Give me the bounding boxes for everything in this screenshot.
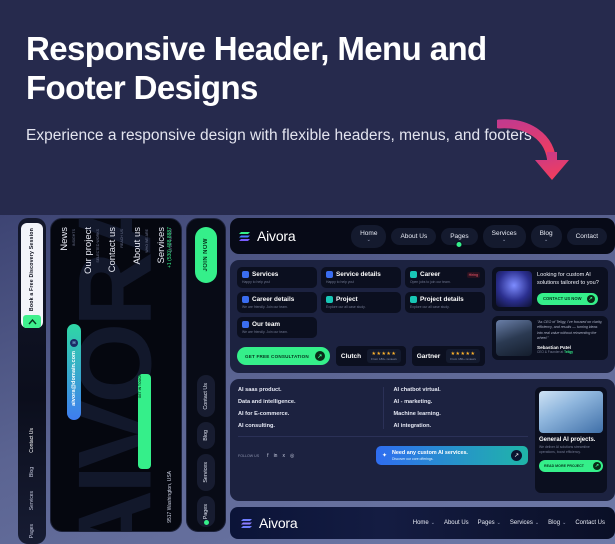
footer-brand-name: Aivora [259, 515, 297, 531]
read-more-project-button[interactable]: READ MORE PROJECT ↗ [539, 460, 603, 472]
footer-navbar: Aivora Home ⌄ About Us Pages ⌄ Services … [230, 507, 615, 539]
nav-label: Services [492, 230, 517, 237]
tile-service-details[interactable]: Service details Happy to help you! [321, 267, 401, 288]
board-contact-rail: +1 (530) 488 8887 9517 Washington, USA [162, 227, 178, 523]
link-ai-saas[interactable]: AI saas product. [238, 387, 373, 393]
tile-title: Service details [336, 271, 381, 278]
linkedin-icon[interactable]: in [274, 453, 278, 459]
teal-icon [326, 296, 333, 303]
footer-nav-label: Contact Us [575, 520, 605, 526]
board-phone[interactable]: +1 (530) 488 8887 [167, 227, 173, 268]
board-green-cta[interactable]: GET IN TOUCH [138, 374, 151, 469]
tile-sub: Explore our all case study. [410, 305, 480, 309]
grid-icon [242, 321, 249, 328]
board-menu-item-contact[interactable]: Contact us REACH US [107, 227, 124, 272]
board-menu-label: About us [132, 227, 143, 265]
tile-title: Project [336, 296, 358, 303]
board-green-cta-label: GET IN TOUCH [138, 374, 142, 398]
tile-our-team[interactable]: Our team We are friendly. Join our team. [237, 317, 317, 338]
footer-nav-label: Services [510, 520, 533, 526]
teal-icon [410, 296, 417, 303]
tile-title: Career [420, 271, 440, 278]
get-free-consultation-button[interactable]: GET FREE CONSULTATION ↗ [237, 347, 330, 365]
links-bottom-row: FOLLOW US f in x ◎ ✦ Need any custom AI … [238, 446, 528, 465]
nav-label: Contact [576, 233, 598, 240]
chevron-up-icon[interactable] [23, 315, 41, 328]
footer-brand[interactable]: Aivora [240, 515, 297, 531]
nav-item-about-us[interactable]: About Us [391, 228, 436, 245]
badge-count: From 180+ reviews [371, 357, 397, 361]
links-columns: AI saas product. Data and intelligence. … [238, 387, 528, 437]
panel-discovery-rail: Book a Free Discovery Session Contact Us… [18, 218, 46, 544]
footer-nav-item-pages[interactable]: Pages ⌄ [478, 520, 501, 526]
grid-icon [242, 271, 249, 278]
contact-us-now-button[interactable]: CONTACT US NOW ↗ [537, 293, 598, 305]
gartner-rating-badge: Gartner ★★★★★ From 180+ reviews [412, 346, 485, 366]
nav-label: About Us [400, 233, 427, 240]
footer-nav-item-blog[interactable]: Blog ⌄ [548, 520, 566, 526]
dribbble-icon[interactable]: ◎ [290, 453, 294, 459]
discovery-session-label: Book a Free Discovery Session [29, 228, 35, 311]
chevron-down-icon: ⌄ [535, 520, 539, 526]
link-ai-consulting[interactable]: AI consulting. [238, 423, 373, 429]
join-rail-nav: Contact Us Blog Services Pages [197, 375, 215, 527]
brand-name: Aivora [257, 228, 295, 244]
tile-career[interactable]: Career Hiring Open jobs to join our team… [405, 267, 485, 288]
panel-join-rail: JOIN NOW Contact Us Blog Services Pages [186, 218, 226, 532]
mega-tile-grid: Services Happy to help you! Service deta… [237, 267, 485, 338]
facebook-icon[interactable]: f [267, 453, 268, 459]
rail-nav-item-pages[interactable]: Pages [29, 524, 35, 538]
join-now-label: JOIN NOW [203, 238, 209, 272]
chevron-down-icon: ⌄ [562, 520, 566, 526]
nav-item-contact[interactable]: Contact [567, 228, 607, 245]
main-nav: Home ⌄ About Us Pages Services ⌄ Blog ⌄ [351, 225, 607, 248]
testimonial-card: "As CEO of Teligy, I've focused on clari… [492, 316, 608, 360]
consult-label: GET FREE CONSULTATION [245, 354, 309, 359]
link-data-intelligence[interactable]: Data and intelligence. [238, 399, 373, 405]
clutch-rating-badge: Clutch ★★★★★ From 180+ reviews [336, 346, 406, 366]
mega-menu-left: Services Happy to help you! Service deta… [237, 267, 485, 366]
custom-ai-services-banner[interactable]: ✦ Need any custom AI services. Discover … [376, 446, 528, 465]
board-menu-sub: REACH US [120, 229, 124, 248]
testimonial-quote: "As CEO of Teligy, I've focused on clari… [537, 320, 604, 342]
links-wrap: AI saas product. Data and intelligence. … [238, 387, 528, 493]
link-ai-marketing[interactable]: AI - marketing. [394, 399, 529, 405]
banner-title: Need any custom AI services. [392, 450, 468, 456]
chevron-down-icon: ⌄ [367, 238, 371, 243]
active-dot-icon [204, 520, 209, 525]
tile-title: Project details [420, 296, 464, 303]
footer-nav-item-contact-us[interactable]: Contact Us [575, 520, 605, 526]
showcase-strip: Book a Free Discovery Session Contact Us… [0, 215, 615, 544]
board-menu-item-news[interactable]: News INSIGHTS [59, 227, 76, 251]
mega-menu: Services Happy to help you! Service deta… [230, 260, 615, 373]
join-now-button[interactable]: JOIN NOW [195, 227, 217, 283]
footer-nav-label: Blog [548, 520, 560, 526]
badge-count: From 180+ reviews [450, 357, 476, 361]
nav-label: Pages [450, 233, 468, 240]
grid-icon [326, 271, 333, 278]
join-nav-label: Blog [203, 430, 209, 441]
mega-menu-links: AI saas product. Data and intelligence. … [230, 379, 615, 501]
general-ai-project-image [539, 391, 603, 433]
active-dot-icon [456, 241, 463, 248]
follow-label: FOLLOW US [238, 454, 259, 458]
teal-icon [410, 271, 417, 278]
tile-sub: Happy to help you! [242, 280, 312, 284]
sparkle-icon: ✦ [382, 452, 387, 459]
nav-item-home[interactable]: Home ⌄ [351, 225, 386, 248]
arrow-up-right-icon: ↗ [593, 462, 601, 470]
arrow-up-right-icon: ↗ [511, 450, 522, 461]
link-column-1: AI saas product. Data and intelligence. … [238, 387, 373, 429]
chevron-down-icon: ⌄ [502, 238, 506, 243]
join-nav-item-pages[interactable]: Pages [197, 496, 215, 527]
promo-button-label: CONTACT US NOW [543, 296, 582, 301]
board-menu-sub: SELECTED WORKS [96, 229, 100, 263]
join-nav-item-blog[interactable]: Blog [197, 422, 215, 449]
join-nav-item-contact[interactable]: Contact Us [197, 375, 215, 418]
link-machine-learning[interactable]: Machine learning. [394, 411, 529, 417]
arrow-up-right-icon: ↗ [587, 295, 595, 303]
footer-nav-item-home[interactable]: Home ⌄ [413, 520, 435, 526]
board-menu-label: Contact us [107, 227, 118, 272]
tile-sub: We are friendly. Join our team. [242, 305, 312, 309]
board-menu-item-about[interactable]: About us WHO WE ARE [132, 227, 149, 265]
footer-nav-label: Home [413, 520, 429, 526]
nav-item-blog[interactable]: Blog ⌄ [531, 225, 562, 248]
nav-item-pages[interactable]: Pages [441, 228, 477, 245]
project-sub: We deliver AI solutions streamline opera… [539, 445, 603, 455]
link-column-2: AI chatbot virtual. AI - marketing. Mach… [383, 387, 529, 429]
tile-project[interactable]: Project Explore our all case study. [321, 292, 401, 313]
project-title: General AI projects. [539, 437, 603, 443]
ai-face-image [496, 271, 532, 307]
join-nav-item-services[interactable]: Services [197, 454, 215, 491]
rail-nav-item-services[interactable]: Services [29, 491, 35, 510]
chevron-down-icon: ⌄ [497, 520, 501, 526]
footer-nav-item-services[interactable]: Services ⌄ [510, 520, 539, 526]
join-nav-label: Pages [203, 504, 209, 519]
arrow-up-right-icon: ↗ [315, 351, 325, 361]
aivora-logo-icon [240, 516, 254, 530]
testimonial-role: CEO & Founder at Teligy [537, 350, 604, 354]
brand[interactable]: Aivora [238, 228, 295, 244]
join-nav-label: Contact Us [203, 383, 209, 410]
sebastian-patel-portrait [496, 320, 532, 356]
chevron-down-icon: ⌄ [431, 520, 435, 526]
curved-arrow-icon [497, 118, 577, 194]
board-menu-item-project[interactable]: Our project SELECTED WORKS [83, 227, 100, 274]
board-menu-label: Our project [83, 227, 94, 274]
rail-nav-item-blog[interactable]: Blog [29, 467, 35, 477]
page-title: Responsive Header, Menu and Footer Desig… [26, 30, 589, 108]
tile-title: Career details [252, 296, 294, 303]
board-address: 9517 Washington, USA [167, 471, 173, 523]
tile-sub: We are friendly. Join our team. [242, 330, 312, 334]
link-ai-ecommerce[interactable]: AI for E-commerce. [238, 411, 373, 417]
main-preview: Aivora Home ⌄ About Us Pages Services ⌄ [230, 218, 615, 544]
panel-aivora-board: AIVORA Services WHAT WE DO About us WHO … [50, 218, 182, 532]
x-icon[interactable]: x [282, 453, 285, 459]
tile-project-details[interactable]: Project details Explore our all case stu… [405, 292, 485, 313]
general-ai-project-card[interactable]: General AI projects. We deliver AI solut… [535, 387, 607, 493]
rail-nav-item-contact[interactable]: Contact Us [29, 428, 35, 453]
tile-sub: Happy to help you! [326, 280, 396, 284]
nav-item-services[interactable]: Services ⌄ [483, 225, 526, 248]
board-menu-label: News [59, 227, 70, 251]
board-menu-sub: INSIGHTS [72, 229, 76, 246]
mega-cta-row: GET FREE CONSULTATION ↗ Clutch ★★★★★ Fro… [237, 346, 485, 366]
mail-icon: ✉ [70, 339, 78, 347]
discovery-rail-nav: Contact Us Blog Services Pages [29, 428, 35, 538]
promo-text: Looking for custom AI solutions tailored… [537, 271, 604, 287]
tile-sub: Open jobs to join our team. [410, 280, 480, 284]
social-links: f in x ◎ [267, 453, 294, 459]
link-ai-chatbot[interactable]: AI chatbot virtual. [394, 387, 529, 393]
tile-career-details[interactable]: Career details We are friendly. Join our… [237, 292, 317, 313]
nav-label: Blog [540, 230, 553, 237]
testimonial-company: Teligy [564, 350, 573, 354]
grid-icon [242, 296, 249, 303]
hiring-badge: Hiring [467, 272, 480, 278]
footer-nav: Home ⌄ About Us Pages ⌄ Services ⌄ Blog … [413, 520, 605, 526]
mega-menu-right: Looking for custom AI solutions tailored… [492, 267, 608, 366]
tile-title: Our team [252, 321, 280, 328]
tile-sub: Explore our all case study. [326, 305, 396, 309]
aivora-logo-icon [238, 229, 252, 243]
nav-label: Home [360, 230, 377, 237]
tile-services[interactable]: Services Happy to help you! [237, 267, 317, 288]
board-email-pill[interactable]: ✉ aivora@domain.com [67, 324, 81, 420]
footer-nav-item-about-us[interactable]: About Us [444, 520, 469, 526]
badge-name: Clutch [341, 353, 361, 360]
join-nav-label: Services [203, 462, 209, 483]
link-ai-integration[interactable]: AI integration. [394, 423, 529, 429]
main-navbar: Aivora Home ⌄ About Us Pages Services ⌄ [230, 218, 615, 254]
banner-subtitle: Discover our core offerings. [392, 457, 468, 461]
tile-title: Services [252, 271, 278, 278]
footer-nav-label: About Us [444, 520, 469, 526]
discovery-session-card[interactable]: Book a Free Discovery Session [21, 223, 43, 328]
promo-card: Looking for custom AI solutions tailored… [492, 267, 608, 311]
board-email-label: aivora@domain.com [71, 351, 77, 406]
badge-name: Gartner [417, 353, 440, 360]
board-menu-sub: WHO WE ARE [145, 229, 149, 253]
chevron-down-icon: ⌄ [544, 238, 548, 243]
project-button-label: READ MORE PROJECT [544, 464, 584, 468]
footer-nav-label: Pages [478, 520, 495, 526]
